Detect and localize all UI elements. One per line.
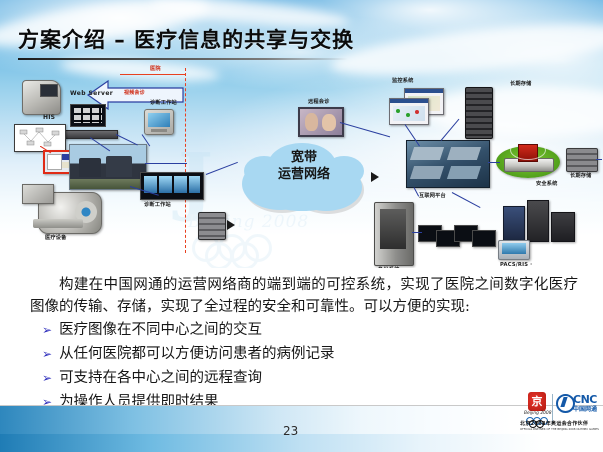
page-number: 23	[283, 424, 298, 438]
label-medical-equipment: 医疗设备	[45, 234, 67, 241]
list-item-label: 医疗图像在不同中心之间的交互	[59, 320, 262, 340]
list-item-label: 从任何医院都可以方便访问患者的病例记录	[59, 344, 335, 364]
web-server-screen	[70, 104, 106, 127]
monitoring-window-front	[389, 98, 429, 125]
connector-line	[441, 119, 460, 141]
partner-text-en: OFFICIAL PARTNER OF THE BEIJING 2008 OLY…	[520, 427, 599, 431]
label-video-consult: 视频会诊	[124, 89, 145, 96]
edge-server-left	[198, 212, 226, 240]
cloud-label-line1: 宽带	[248, 150, 360, 166]
label-his: HIS	[43, 114, 55, 121]
server-tower	[465, 87, 493, 139]
cloud-label-line2: 运营网络	[248, 167, 360, 183]
list-item: ➢ 从任何医院都可以方便访问患者的病例记录	[42, 344, 562, 364]
label-web-server: Web Server	[70, 90, 113, 97]
label-long-term-storage: 长期存储	[510, 80, 532, 87]
ris-server	[527, 200, 549, 242]
title-underline	[18, 58, 348, 60]
connector-line	[412, 232, 422, 233]
bullet-marker-icon: ➢	[42, 344, 52, 364]
third-party-his-server	[551, 212, 575, 242]
label-internet-platform: 互联网平台	[419, 192, 446, 199]
list-item-label: 可支持在各中心之间的远程查询	[59, 368, 262, 388]
slide-root: 方案介绍 – 医疗信息的共享与交换 J Beijing 2008 OFFICIA…	[0, 0, 603, 452]
flow-arrow-right-icon	[371, 172, 379, 182]
long-term-storage-stack	[566, 148, 598, 172]
remote-consultation-video	[298, 107, 344, 137]
architecture-diagram: 医院 视频会诊 Web Server HIS	[0, 62, 603, 267]
bullet-list: ➢ 医疗图像在不同中心之间的交互 ➢ 从任何医院都可以方便访问患者的病例记录 ➢…	[42, 320, 562, 416]
slide-title: 方案介绍 – 医疗信息的共享与交换	[18, 24, 354, 54]
footer-logos: 京 Beijing 2008 CNC 中国网通 北京2008年奥运会合作伙伴 O…	[520, 392, 600, 444]
connector-line	[488, 162, 500, 163]
beijing-logo-text: Beijing 2008	[524, 411, 552, 416]
diagnostic-workstation-bank	[140, 172, 204, 200]
list-item: ➢ 医疗图像在不同中心之间的交互	[42, 320, 562, 340]
connector-line	[145, 163, 187, 164]
label-security-system: 安全系统	[536, 180, 558, 187]
connector-line	[206, 162, 238, 175]
cnc-logo: CNC 中国网通	[556, 393, 600, 415]
flow-arrow-right-icon	[227, 220, 235, 230]
label-diagnostic-workstation-top: 诊断工作站	[150, 99, 177, 106]
connector-line	[596, 159, 602, 160]
label-monitoring-system: 监控系统	[392, 77, 414, 84]
label-storage-right: 长期存储	[570, 172, 592, 179]
storage-module	[472, 230, 496, 247]
pacs-laptop	[498, 240, 530, 260]
datacenter-overhead-photo	[406, 140, 490, 188]
bullet-marker-icon: ➢	[42, 320, 52, 340]
slide-body: 构建在中国网通的运营网络商的端到端的可控系统，实现了医院之间数字化医疗图像的传输…	[0, 268, 603, 403]
beijing-seal-icon: 京	[528, 392, 546, 411]
security-system-disc	[496, 146, 560, 178]
bullet-marker-icon: ➢	[42, 368, 52, 388]
backup-system-cabinet	[374, 202, 414, 266]
boundary-top-line	[120, 74, 186, 75]
his-connector-icon	[40, 146, 52, 154]
label-hospital-boundary: 医院	[150, 65, 161, 72]
body-paragraph: 构建在中国网通的运营网络商的端到端的可控系统，实现了医院之间数字化医疗图像的传输…	[30, 274, 578, 318]
label-diagnostic-workstation-bottom: 诊断工作站	[144, 201, 171, 208]
pacs-server	[503, 206, 525, 242]
diagnostic-workstation-top	[144, 109, 174, 135]
list-item: ➢ 可支持在各中心之间的远程查询	[42, 368, 562, 388]
cnc-name-cn: 中国网通	[573, 404, 597, 413]
connector-line	[452, 192, 481, 208]
slide-footer	[0, 406, 603, 452]
label-remote-consultation: 远程会诊	[308, 98, 330, 105]
connector-line	[340, 122, 390, 137]
film-scanner-device	[22, 80, 61, 115]
partner-text-cn: 北京2008年奥运会合作伙伴	[520, 420, 588, 427]
medical-device-small	[22, 184, 54, 204]
